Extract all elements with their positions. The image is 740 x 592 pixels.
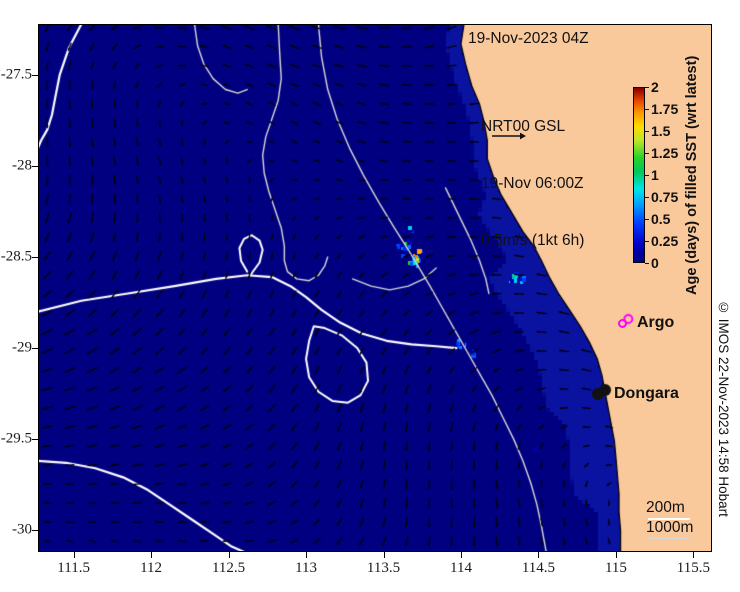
colorbar-tick (645, 197, 649, 198)
colorbar-tick (645, 153, 649, 154)
sst-age-heatmap[interactable] (38, 24, 712, 552)
figure-canvas: 19-Nov-2023 04Z NRT00 GSL 19-Nov 06:00Z … (0, 0, 740, 592)
x-tick-label: 114.5 (522, 560, 555, 577)
x-tick-label: 115 (605, 560, 627, 577)
dongara-marker-icon (592, 388, 604, 400)
x-tick-label: 114 (450, 560, 472, 577)
legend-argo: Argo (618, 314, 674, 332)
right-arrow-icon (492, 131, 526, 141)
y-tick (32, 257, 38, 258)
y-tick (32, 530, 38, 531)
colorbar-tick-label: 0.75 (651, 189, 678, 205)
x-tick-label: 112 (140, 560, 162, 577)
colorbar-tick-label: 0.5 (651, 211, 670, 227)
colorbar-tick-label: 1.75 (651, 101, 678, 117)
x-tick (306, 552, 307, 558)
colorbar-tick (645, 109, 649, 110)
y-tick (32, 75, 38, 76)
depth-200m-line (648, 518, 690, 520)
y-tick-label: -30 (12, 522, 32, 539)
map-plot-area[interactable] (38, 24, 712, 552)
date-stamp: 19-Nov-2023 04Z (468, 30, 589, 48)
argo-marker-icon (618, 319, 627, 328)
y-tick-label: -28 (12, 158, 32, 175)
depth-200m-label: 200m (646, 498, 693, 518)
colorbar-tick (645, 263, 649, 264)
colorbar-gradient[interactable] (633, 87, 645, 263)
colorbar-tick (645, 131, 649, 132)
x-tick-label: 111.5 (57, 560, 90, 577)
depth-1000m-label: 1000m (646, 518, 693, 538)
x-tick-label: 115.5 (677, 560, 710, 577)
y-tick-label: -28.5 (1, 249, 32, 266)
colorbar-title: Age (days) of filled SST (wrt latest) (682, 40, 702, 310)
x-tick (693, 552, 694, 558)
y-tick (32, 166, 38, 167)
y-tick (32, 348, 38, 349)
x-tick (538, 552, 539, 558)
colorbar-tick (645, 175, 649, 176)
colorbar-tick (645, 87, 649, 88)
x-tick (74, 552, 75, 558)
y-tick-label: -29.5 (1, 431, 32, 448)
colorbar-tick-label: 1.25 (651, 145, 678, 161)
x-tick (616, 552, 617, 558)
depth-1000m-line (648, 538, 690, 539)
x-tick (151, 552, 152, 558)
x-tick-label: 112.5 (212, 560, 245, 577)
dongara-label: Dongara (614, 385, 679, 403)
current-annotation: NRT00 GSL 19-Nov 06:00Z 0.5m/s (1kt 6h) (481, 79, 584, 288)
x-tick (461, 552, 462, 558)
legend-dongara: Dongara (592, 385, 679, 403)
x-tick-label: 113 (295, 560, 317, 577)
x-tick-label: 113.5 (367, 560, 400, 577)
colorbar-tick-label: 1.5 (651, 123, 670, 139)
colorbar-tick-label: 0.25 (651, 233, 678, 249)
x-tick (384, 552, 385, 558)
current-scale: 0.5m/s (1kt 6h) (481, 231, 584, 250)
y-tick (32, 439, 38, 440)
colorbar-tick-label: 1 (651, 167, 659, 183)
colorbar-tick-label: 0 (651, 255, 659, 271)
x-tick (229, 552, 230, 558)
argo-label: Argo (637, 314, 674, 332)
copyright-text: © IMOS 22-Nov-2023 14:58 Hobart (716, 300, 731, 517)
colorbar-tick-label: 2 (651, 79, 659, 95)
colorbar-tick (645, 219, 649, 220)
current-timestamp: 19-Nov 06:00Z (481, 174, 584, 193)
y-tick-label: -29 (12, 340, 32, 357)
y-tick-label: -27.5 (1, 66, 32, 83)
colorbar-tick (645, 241, 649, 242)
